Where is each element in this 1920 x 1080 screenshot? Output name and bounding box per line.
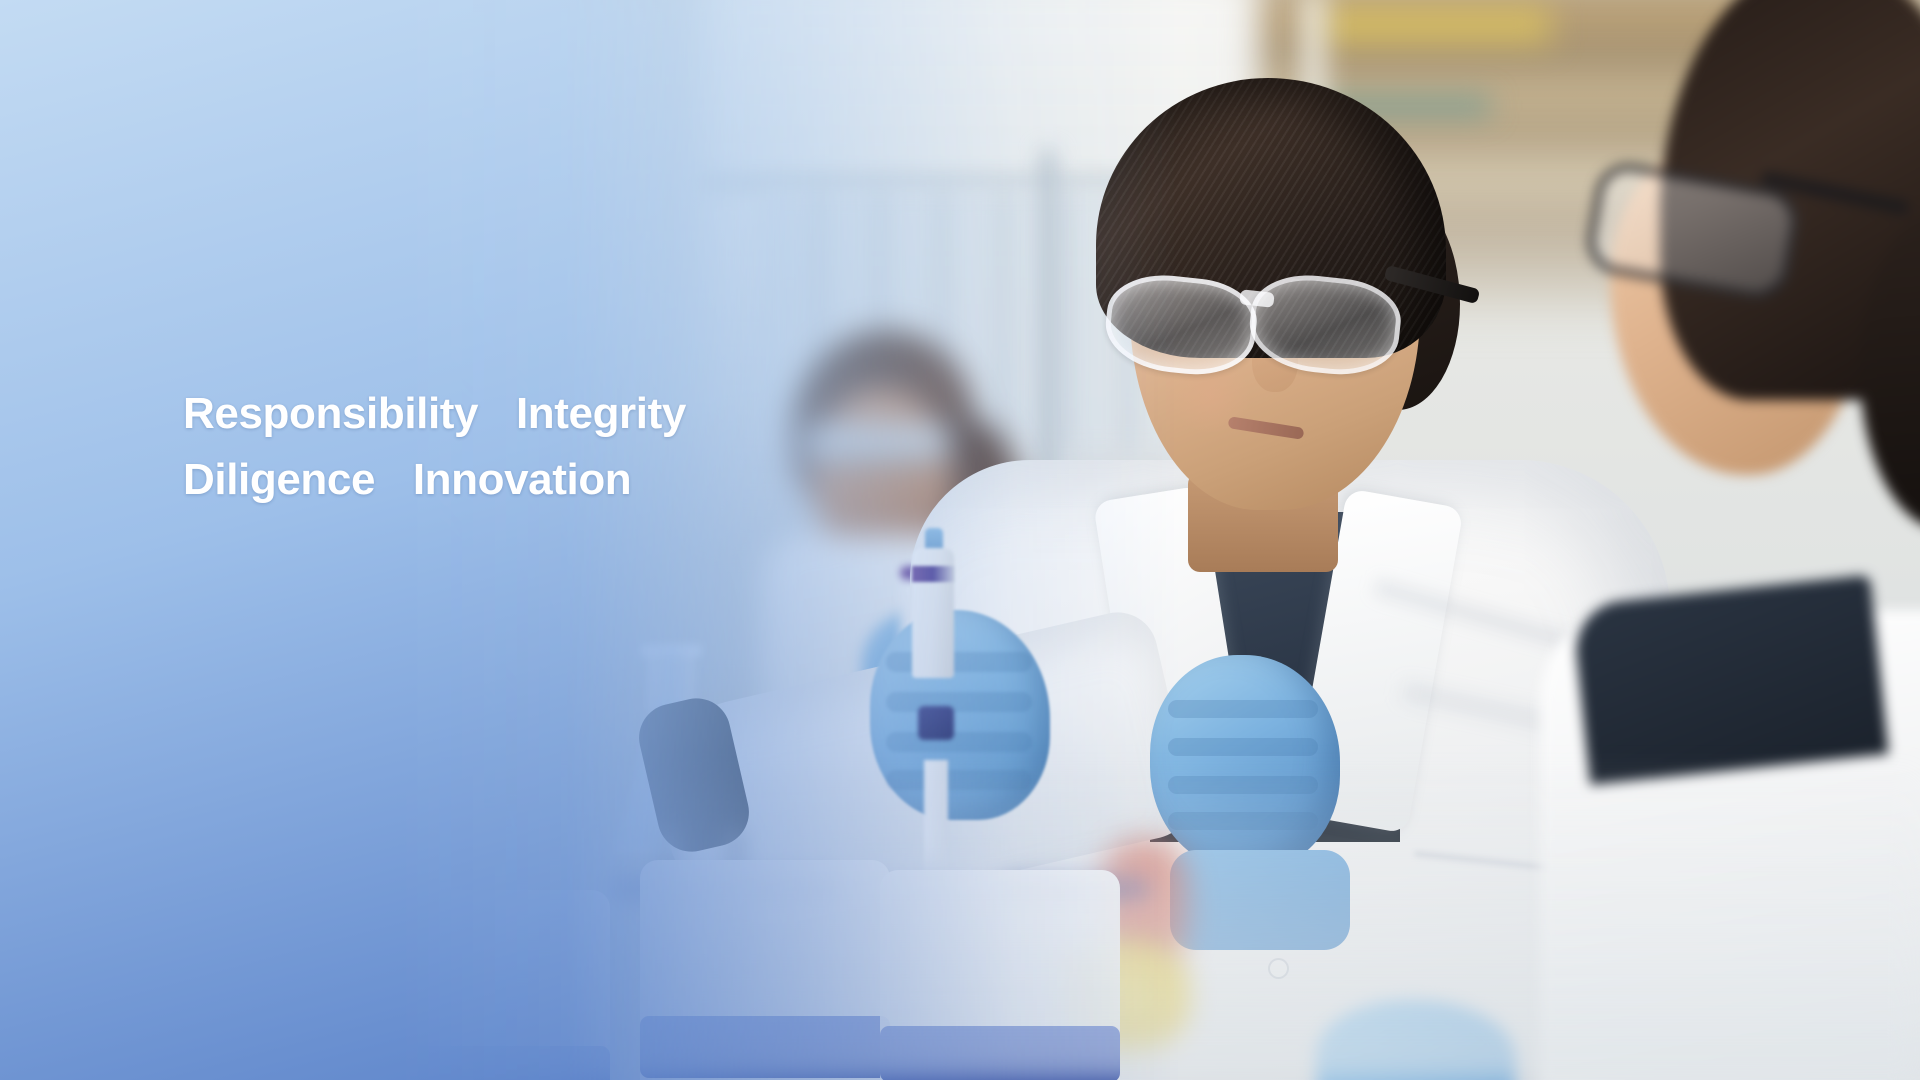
pipette-collar xyxy=(918,706,954,740)
pipette-label xyxy=(912,566,954,582)
goggle-lens-left xyxy=(1101,269,1260,380)
goggle-lens-right xyxy=(1245,269,1404,380)
values-headline: Responsibility Integrity Diligence Innov… xyxy=(183,381,903,513)
glove-wrist xyxy=(1170,850,1350,950)
glove-finger-crease xyxy=(886,692,1032,712)
shelf-yellow-box xyxy=(1320,8,1550,42)
glove-finger-crease xyxy=(886,732,1032,752)
reagent-bottle-cap xyxy=(640,1016,890,1078)
value-word-responsibility: Responsibility xyxy=(183,389,478,438)
glove-finger-crease xyxy=(886,770,1032,790)
value-word-integrity: Integrity xyxy=(516,389,686,438)
glove-finger-crease xyxy=(886,652,1032,672)
glove-knuckle-crease xyxy=(1168,812,1318,830)
glove-knuckle-crease xyxy=(1168,700,1318,718)
hero-banner: Responsibility Integrity Diligence Innov… xyxy=(0,0,1920,1080)
value-word-diligence: Diligence xyxy=(183,455,375,504)
lab-photograph xyxy=(0,0,1920,1080)
reagent-bottle-cap xyxy=(880,1026,1120,1080)
foreground-scientist-collar xyxy=(1571,575,1888,785)
value-word-innovation: Innovation xyxy=(413,455,631,504)
reagent-bottle-cap xyxy=(410,1046,610,1080)
coat-button xyxy=(1270,960,1287,977)
values-line-1: Responsibility Integrity xyxy=(183,381,903,447)
safety-goggles-icon xyxy=(1100,255,1450,387)
main-scientist-gloved-fist xyxy=(1150,655,1340,870)
glove-knuckle-crease xyxy=(1168,776,1318,794)
values-line-2: Diligence Innovation xyxy=(183,447,903,513)
goggle-temple-arm xyxy=(1384,265,1481,304)
glove-knuckle-crease xyxy=(1168,738,1318,756)
foreground-scientist xyxy=(1620,0,1920,1080)
